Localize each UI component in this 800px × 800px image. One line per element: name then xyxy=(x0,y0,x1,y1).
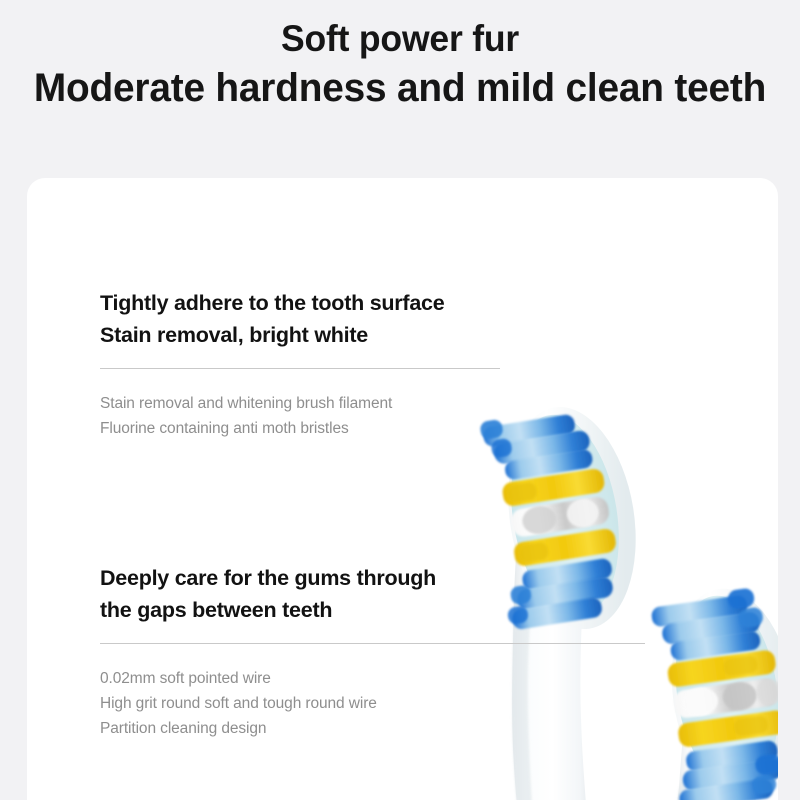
bristle-rows-lower xyxy=(650,585,778,800)
headline-line-2: Moderate hardness and mild clean teeth xyxy=(12,65,788,111)
brush-head-shell-lower xyxy=(659,581,778,800)
feature-2-title-line-2: the gaps between teeth xyxy=(100,595,645,627)
feature-1-title-line-1: Tightly adhere to the tooth surface xyxy=(100,288,500,320)
feature-2-sub-line-3: Partition cleaning design xyxy=(100,716,645,741)
bristle-row-blue-bottom xyxy=(673,739,778,800)
bristle-row-yellow-upper xyxy=(667,649,777,688)
bristle-row-yellow-lower xyxy=(513,528,617,568)
bristle-row-yellow-upper xyxy=(501,468,605,508)
feature-1-sub-line-1: Stain removal and whitening brush filame… xyxy=(100,391,500,416)
bristle-row-blue-top xyxy=(650,587,768,664)
feature-card: Tightly adhere to the tooth surface Stai… xyxy=(27,178,778,800)
brush-head-backing-lower xyxy=(664,589,778,795)
feature-1-divider xyxy=(100,368,500,369)
headline-line-1: Soft power fur xyxy=(16,18,784,61)
bristle-row-yellow-lower xyxy=(677,709,778,748)
bristle-row-white xyxy=(509,495,610,538)
feature-2-divider xyxy=(100,643,645,644)
feature-2-sub-line-2: High grit round soft and tough round wir… xyxy=(100,691,645,716)
brush-handle-lower xyxy=(675,648,757,800)
feature-1-sub-line-2: Fluorine containing anti moth bristles xyxy=(100,416,500,441)
feature-2-sub-line-1: 0.02mm soft pointed wire xyxy=(100,666,645,691)
toothbrush-head-lower xyxy=(650,581,778,800)
feature-2-title-line-1: Deeply care for the gums through xyxy=(100,563,645,595)
product-feature-panel: Soft power fur Moderate hardness and mil… xyxy=(0,0,800,800)
bristle-row-white xyxy=(672,676,778,719)
page-title: Soft power fur Moderate hardness and mil… xyxy=(0,18,800,111)
feature-block-1: Tightly adhere to the tooth surface Stai… xyxy=(100,288,500,441)
feature-block-2: Deeply care for the gums through the gap… xyxy=(100,563,645,741)
feature-1-title-line-2: Stain removal, bright white xyxy=(100,320,500,352)
